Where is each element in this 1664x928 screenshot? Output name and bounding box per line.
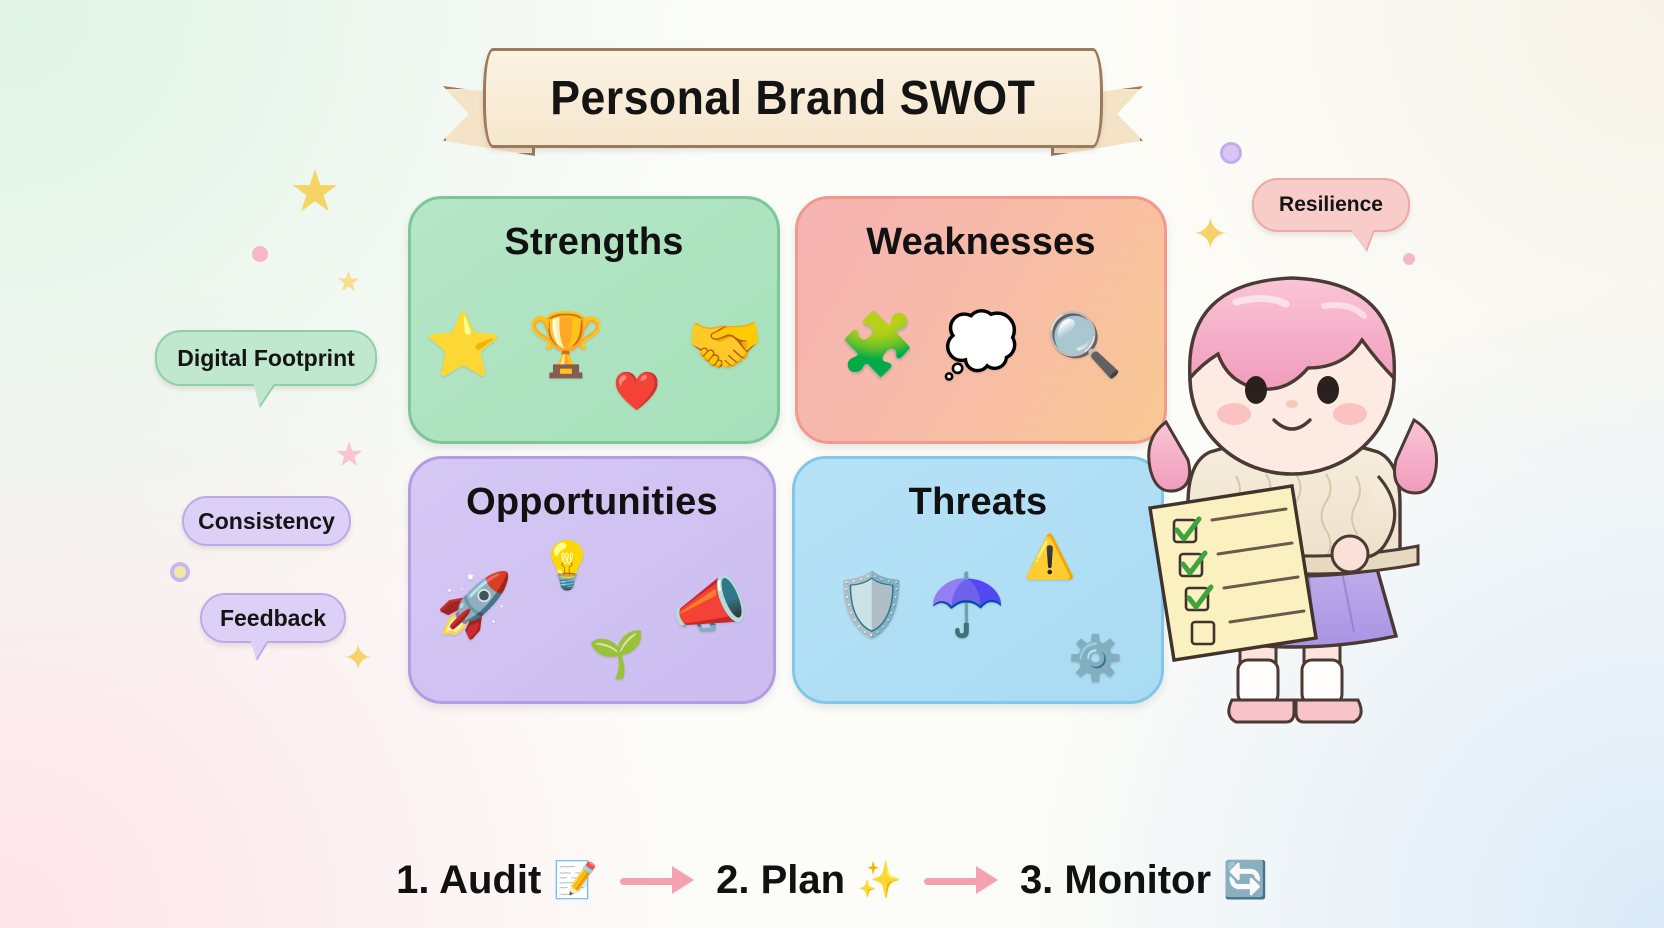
gears-icon: ⚙️: [1068, 637, 1123, 681]
bubble-label-feedback: Feedback: [220, 605, 326, 632]
handshake-icon: 🤝: [686, 315, 763, 377]
ribbon-body: Personal Brand SWOT: [483, 48, 1103, 148]
title-banner: Personal Brand SWOT: [443, 48, 1143, 173]
infographic-canvas: Personal Brand SWOT ★ ★ ★ ✦ ✦ Strengths …: [0, 0, 1664, 928]
bubble-resilience[interactable]: Resilience: [1252, 178, 1410, 232]
shoes: [1229, 700, 1361, 722]
puzzle-piece-icon: 🧩: [839, 315, 916, 377]
flow-step-label-plan: 2. Plan: [716, 858, 845, 903]
bubble-digital-footprint[interactable]: Digital Footprint: [155, 330, 377, 386]
warning-triangle-icon: ⚠️: [1024, 536, 1076, 578]
eye-right: [1317, 376, 1339, 404]
dot-purple: [1220, 142, 1242, 164]
quadrant-card-strengths[interactable]: Strengths ⭐ 🏆 ❤️ 🤝: [408, 196, 780, 444]
cheek-left: [1217, 403, 1251, 425]
flow-step-label-monitor: 3. Monitor: [1020, 858, 1211, 903]
quadrant-title-weaknesses: Weaknesses: [866, 221, 1095, 264]
cheek-right: [1333, 403, 1367, 425]
quadrant-title-opportunities: Opportunities: [466, 481, 718, 524]
bubble-tail-icon: [253, 382, 275, 406]
heart-icon: ❤️: [613, 373, 660, 411]
flow-step-audit[interactable]: 1. Audit 📝: [396, 858, 598, 903]
megaphone-icon: 📣: [671, 575, 748, 637]
flow-step-monitor[interactable]: 3. Monitor 🔄: [1020, 858, 1268, 903]
quadrant-icons-weaknesses: 🧩 💭 🔍: [839, 264, 1123, 441]
dot-purple-left: [170, 562, 190, 582]
quadrant-icons-strengths: ⭐ 🏆 ❤️ 🤝: [425, 264, 764, 441]
quadrant-card-opportunities[interactable]: Opportunities 🚀 💡 🌱 📣: [408, 456, 776, 704]
seedling-icon: 🌱: [588, 631, 645, 677]
bubble-tail-icon: [250, 639, 268, 659]
magnifying-glass-icon: 🔍: [1046, 315, 1123, 377]
star-icon: ⭐: [425, 315, 502, 377]
cycle-icon: 🔄: [1223, 862, 1268, 898]
star-large-icon: ★: [289, 163, 341, 221]
quadrant-title-strengths: Strengths: [504, 221, 683, 264]
bubble-label-digital-footprint: Digital Footprint: [177, 345, 355, 372]
quadrant-icons-opportunities: 🚀 💡 🌱 📣: [436, 524, 749, 701]
bubble-feedback[interactable]: Feedback: [200, 593, 346, 643]
quadrant-card-weaknesses[interactable]: Weaknesses 🧩 💭 🔍: [795, 196, 1167, 444]
bubble-tail-icon: [1350, 228, 1374, 250]
quadrant-title-threats: Threats: [909, 481, 1048, 524]
sparkle-left-icon: ✦: [343, 640, 373, 676]
thought-cloud-icon: 💭: [942, 315, 1019, 377]
rocket-icon: 🚀: [436, 575, 513, 637]
eye-left: [1245, 376, 1267, 404]
bubble-consistency[interactable]: Consistency: [182, 496, 351, 546]
sparkles-icon: ✨: [857, 862, 902, 898]
pigtail-right: [1395, 420, 1437, 493]
quadrant-card-threats[interactable]: Threats 🛡️ ☂️ ⚠️ ⚙️: [792, 456, 1164, 704]
checklist-paper: [1150, 486, 1316, 660]
page-title: Personal Brand SWOT: [550, 71, 1035, 126]
star-small-icon: ★: [336, 268, 361, 296]
star-pink-icon: ★: [334, 438, 364, 472]
sparkle-right-icon: ✦: [1192, 213, 1229, 257]
pigtail-left: [1149, 422, 1190, 491]
arrow-right-icon: [924, 875, 998, 885]
bubble-label-resilience: Resilience: [1279, 193, 1383, 217]
bubble-label-consistency: Consistency: [198, 508, 335, 535]
flow-step-plan[interactable]: 2. Plan ✨: [716, 858, 902, 903]
umbrella-icon: ☂️: [928, 575, 1005, 637]
memo-icon: 📝: [553, 862, 598, 898]
lightbulb-icon: 💡: [539, 542, 596, 588]
flow-step-label-audit: 1. Audit: [396, 858, 541, 903]
quadrant-icons-threats: 🛡️ ☂️ ⚠️ ⚙️: [833, 524, 1123, 701]
dot-pink: [252, 246, 268, 262]
arrow-right-icon: [620, 875, 694, 885]
trophy-icon: 🏆: [528, 315, 605, 377]
girl-with-checklist-illustration: [1128, 262, 1460, 740]
socks: [1238, 660, 1342, 704]
shield-icon: 🛡️: [833, 575, 910, 637]
process-flow: 1. Audit 📝 2. Plan ✨ 3. Monitor 🔄: [0, 845, 1664, 915]
